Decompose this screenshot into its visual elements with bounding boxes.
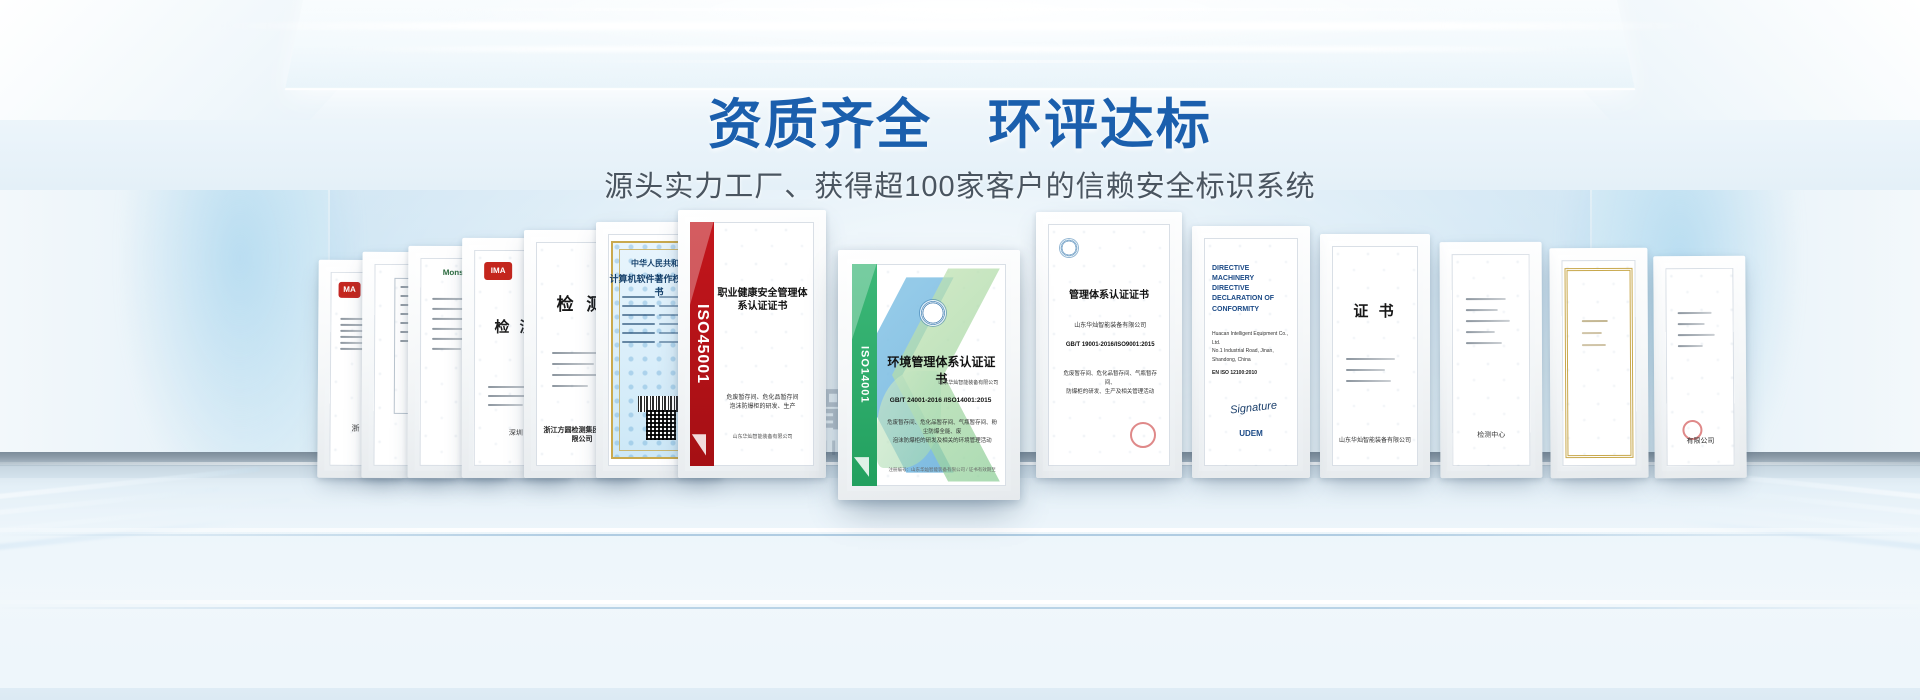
cert-company: 山东华灿智能装备有限公司 <box>889 379 998 386</box>
page-subtitle: 源头实力工厂、获得超100家客户的信赖安全标识系统 <box>0 163 1920 205</box>
certificate-frame: 管理体系认证证书 山东华灿智能装备有限公司 GB/T 19001-2016/IS… <box>1036 212 1182 478</box>
cert-body-line: 危废暂存间、危化品暂存间 <box>720 394 806 403</box>
cert-body-line: Huacan Intelligent Equipment Co., Ltd. <box>1212 330 1290 347</box>
cert-title-line-2: MACHINERY DIRECTIVE <box>1212 274 1290 294</box>
cert-badge-label: MA <box>341 284 359 296</box>
cert-body-line: 防爆柜的研发、生产及相关管理活动 <box>1060 388 1160 397</box>
cert-body-line: 泡沫防爆柜的研发及相关的环境管理活动 <box>886 437 998 446</box>
cert-sidebar-label: ISO45001 <box>693 304 711 384</box>
cert-body-line: No.1 Industrial Road, Jinan, Shandong, C… <box>1212 347 1290 364</box>
cert-title: 职业健康安全管理体系认证证书 <box>717 288 808 313</box>
cert-body-line: 危废暂存间、危化品暂存间、气瓶暂存间、 <box>1060 370 1160 388</box>
cert-standard: EN ISO 12100:2010 <box>1212 370 1290 376</box>
cert-footer: 注册编号：山东华灿智能装备有限公司 / 证书有效期至 <box>886 467 998 473</box>
cert-footer: 山东华灿智能装备有限公司 <box>720 433 806 440</box>
certificate-frame: 有限公司 <box>1653 256 1747 479</box>
cert-standard: GB/T 19001-2016/ISO9001:2015 <box>1058 342 1163 348</box>
certificate-frame: 检测中心 <box>1440 242 1543 478</box>
floor-highlight-line-2 <box>0 607 1920 609</box>
cert-title: 证 书 <box>1332 300 1418 321</box>
cert-body-line: 泡沫防爆柜的研发、生产 <box>720 403 806 412</box>
certificate-frame: 证 书 山东华灿智能装备有限公司 <box>1320 234 1430 478</box>
certificate-frame-featured: ISO14001 环境管理体系认证证书 山东华灿智能装备有限公司 GB/T 24… <box>838 250 1020 500</box>
cert-sidebar-label: ISO14001 <box>858 346 870 404</box>
cert-sidebar: ISO45001 <box>690 222 714 466</box>
banner-stage: 资质齐全 环评达标 源头实力工厂、获得超100家客户的信赖安全标识系统 MA 浙… <box>0 0 1920 700</box>
floor-seam-2 <box>0 528 1920 532</box>
cert-title-line-1: DIRECTIVE <box>1212 264 1290 274</box>
cert-badge-label: IMA <box>486 264 510 278</box>
certificate-frame <box>1549 248 1648 479</box>
cert-title: 管理体系认证证书 <box>1055 286 1162 301</box>
cert-company: 山东华灿智能装备有限公司 <box>1058 320 1163 329</box>
cert-footer: UDEM <box>1204 429 1298 438</box>
cert-title-line-4: CONFORMITY <box>1212 305 1290 315</box>
page-title: 资质齐全 环评达标 <box>0 96 1920 154</box>
cove-light-1 <box>210 22 1710 30</box>
cert-body-line: 危废暂存间、危化品暂存间、气瓶暂存间、粉尘防爆全能、废 <box>886 419 998 437</box>
cert-standard: GB/T 24001-2016 /ISO14001:2015 <box>883 397 999 404</box>
ceiling <box>0 0 1920 190</box>
floor-highlight-line-1 <box>0 600 1920 604</box>
cert-title-line-3: DECLARATION OF <box>1212 294 1290 304</box>
cert-sidebar: ISO14001 <box>852 264 877 486</box>
certificate-frame: DIRECTIVE MACHINERY DIRECTIVE DECLARATIO… <box>1192 226 1310 478</box>
floor-seam-3 <box>0 534 1920 536</box>
cert-footer: 检测中心 <box>1452 430 1530 440</box>
ceiling-strip-1 <box>420 8 1500 11</box>
headline-part-1: 资质齐全 <box>708 95 932 155</box>
certificate-frame: ISO45001 职业健康安全管理体系认证证书 危废暂存间、危化品暂存间 泡沫防… <box>678 210 826 478</box>
cert-footer: 有限公司 <box>1666 436 1734 446</box>
ceiling-strip-2 <box>520 60 1400 63</box>
cert-footer: 山东华灿智能装备有限公司 <box>1338 435 1412 444</box>
cove-light-2 <box>330 46 1590 52</box>
headline-part-2: 环评达标 <box>988 95 1212 155</box>
certificate-gallery: MA 浙 江 <box>0 228 1920 478</box>
